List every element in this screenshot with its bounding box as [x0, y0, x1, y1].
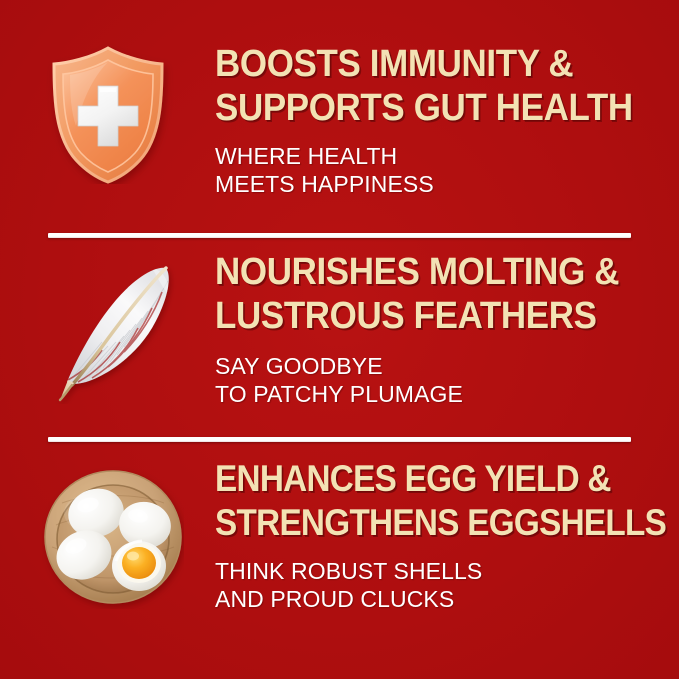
benefit-headline-line-2: LUSTROUS FEATHERS — [215, 294, 642, 338]
benefit-headline-line-1: NOURISHES MOLTING & — [215, 250, 642, 294]
section-divider — [48, 437, 631, 442]
benefit-headline-line-1: ENHANCES EGG YIELD & — [215, 457, 666, 501]
benefit-row-feathers: NOURISHES MOLTING & LUSTROUS FEATHERS SA… — [0, 248, 679, 428]
benefit-subline-line-1: SAY GOODBYE — [215, 352, 679, 380]
eggs-bowl-icon — [42, 463, 184, 609]
benefit-subline-line-2: TO PATCHY PLUMAGE — [215, 380, 679, 408]
benefit-text-cell: ENHANCES EGG YIELD & STRENGTHENS EGGSHEL… — [215, 455, 679, 613]
benefit-icon-cell — [0, 40, 215, 225]
benefit-icon-cell — [0, 248, 215, 428]
benefits-infographic: BOOSTS IMMUNITY & SUPPORTS GUT HEALTH WH… — [0, 0, 679, 679]
benefit-row-eggs: ENHANCES EGG YIELD & STRENGTHENS EGGSHEL… — [0, 455, 679, 630]
shield-plus-icon — [42, 42, 174, 184]
benefit-subline-line-1: WHERE HEALTH — [215, 142, 679, 170]
section-divider — [48, 233, 631, 238]
benefit-headline-line-2: SUPPORTS GUT HEALTH — [215, 86, 642, 130]
benefit-headline-line-1: BOOSTS IMMUNITY & — [215, 42, 642, 86]
feather-icon — [42, 254, 182, 404]
benefit-icon-cell — [0, 455, 215, 630]
benefit-subline-line-2: AND PROUD CLUCKS — [215, 585, 679, 613]
benefit-row-immunity: BOOSTS IMMUNITY & SUPPORTS GUT HEALTH WH… — [0, 40, 679, 225]
benefit-subline-line-2: MEETS HAPPINESS — [215, 170, 679, 198]
benefit-headline-line-2: STRENGTHENS EGGSHELLS — [215, 501, 666, 545]
benefit-text-cell: BOOSTS IMMUNITY & SUPPORTS GUT HEALTH WH… — [215, 40, 679, 198]
benefit-text-cell: NOURISHES MOLTING & LUSTROUS FEATHERS SA… — [215, 248, 679, 408]
benefit-subline-line-1: THINK ROBUST SHELLS — [215, 557, 679, 585]
